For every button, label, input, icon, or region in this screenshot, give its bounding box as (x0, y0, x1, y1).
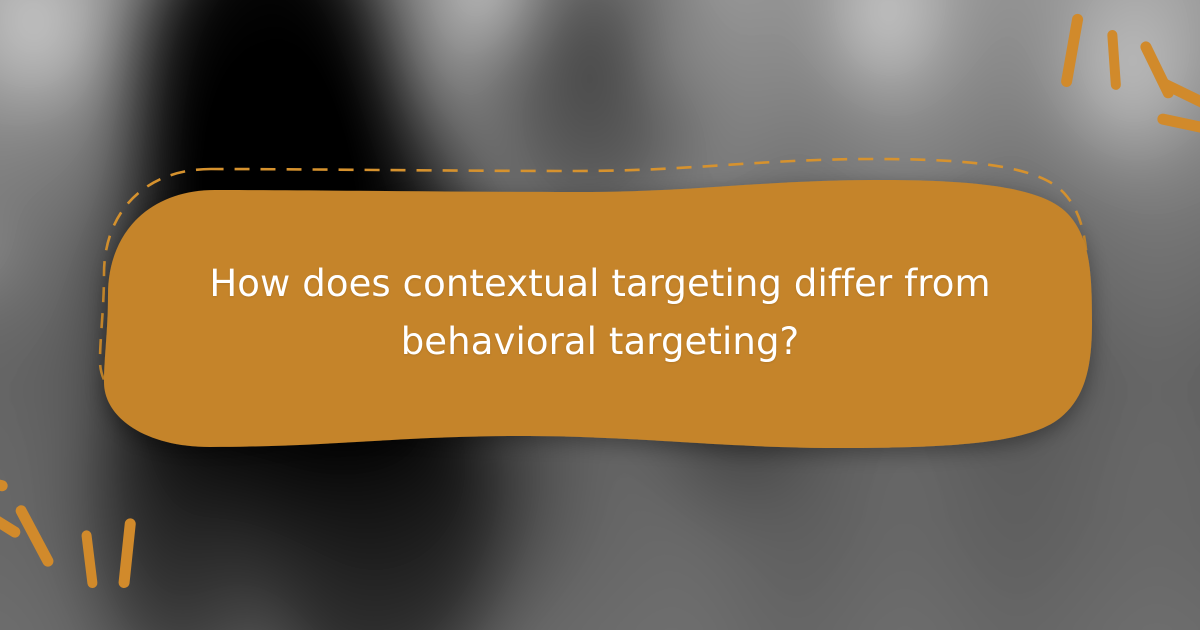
question-card: How does contextual targeting differ fro… (0, 0, 1200, 630)
card-question-text: How does contextual targeting differ fro… (180, 255, 1020, 371)
question-card-graphic: How does contextual targeting differ fro… (0, 0, 1200, 630)
